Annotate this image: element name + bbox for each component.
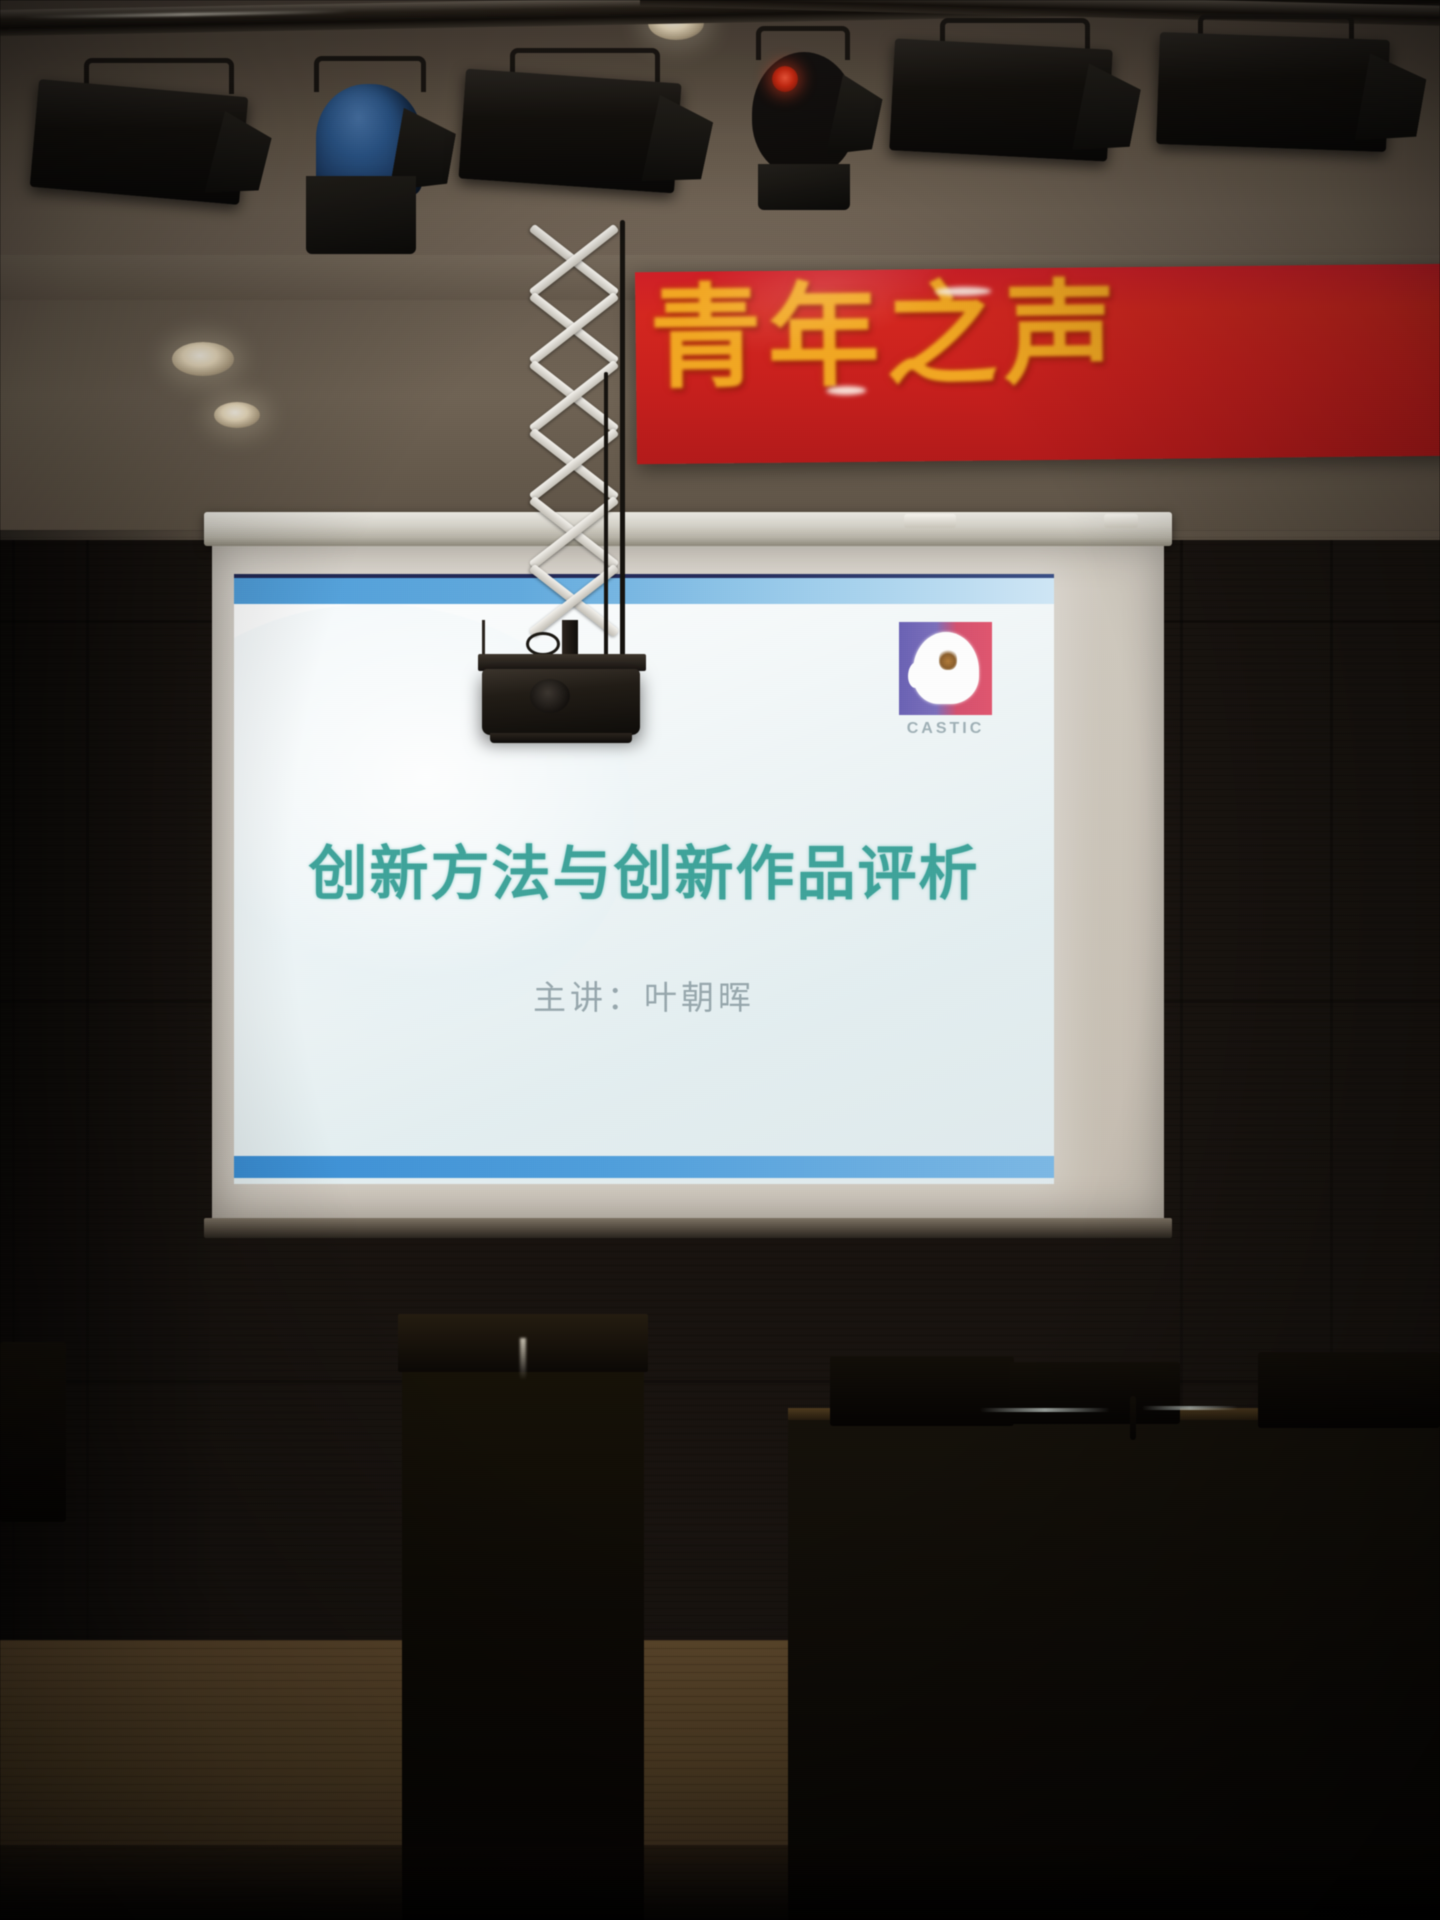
castic-logo: CASTIC <box>899 622 992 738</box>
projection-screen: CASTIC 创新方法与创新作品评析 主讲：叶朝晖 <box>204 512 1172 1260</box>
stage-light <box>26 58 266 258</box>
screen-weight-bar <box>204 1218 1172 1238</box>
red-banner: 青年之声 <box>635 264 1440 465</box>
projector-cable <box>620 220 625 656</box>
wall-speaker <box>0 1342 66 1522</box>
lamp-barndoor <box>306 176 416 254</box>
castic-logo-caption: CASTIC <box>899 720 992 738</box>
scissor-segment <box>520 290 612 362</box>
screen-surface: CASTIC 创新方法与创新作品评析 主讲：叶朝晖 <box>212 546 1164 1218</box>
screen-case-notch <box>904 514 956 528</box>
lamp-housing <box>1156 32 1390 152</box>
slide-subtitle: 主讲：叶朝晖 <box>234 971 1054 1019</box>
microphone-gooseneck <box>1130 1396 1136 1440</box>
projector-lens-icon <box>530 679 570 713</box>
auditorium-photo: 青年之声 CASTIC <box>0 0 1440 1920</box>
banner-text: 青年之声 <box>635 272 1440 399</box>
head-profile-nose <box>908 662 924 688</box>
slide-title: 创新方法与创新作品评析 <box>234 826 1054 911</box>
projector-cable <box>604 372 608 662</box>
stage-light <box>738 26 868 226</box>
ceiling-downlight <box>214 402 260 428</box>
head-table <box>788 1408 1440 1920</box>
projector-body <box>482 669 640 735</box>
podium-highlight <box>520 1338 526 1380</box>
projector-scissor-lift <box>520 222 630 692</box>
ceiling-downlight <box>172 342 234 376</box>
stage-light <box>1158 14 1440 214</box>
slide-top-band-edge <box>234 574 1054 578</box>
projector-base <box>490 733 632 743</box>
scissor-segment <box>520 222 612 294</box>
wall-groove <box>86 540 89 1660</box>
slide-top-band <box>234 574 1054 604</box>
stage-light <box>884 18 1134 218</box>
table-item <box>1010 1362 1180 1424</box>
screen-roller-case <box>204 512 1172 546</box>
screen-case-notch <box>1104 514 1138 528</box>
scissor-segment <box>520 358 612 430</box>
projector-loop-wire <box>526 632 560 656</box>
logo-spark-icon <box>939 648 957 670</box>
scissor-segment <box>520 494 612 566</box>
lamp-barndoor <box>758 164 850 210</box>
scissor-segment <box>520 426 612 498</box>
slide-bottom-band <box>234 1156 1054 1178</box>
microphone-stand <box>980 1408 1110 1412</box>
wall-groove <box>0 1380 1440 1383</box>
stage-light <box>458 48 708 248</box>
table-item <box>830 1356 1014 1426</box>
table-item <box>1258 1352 1440 1428</box>
floor-shadow <box>0 1845 1440 1920</box>
castic-logo-mark <box>899 622 992 715</box>
microphone-stand <box>1142 1406 1238 1410</box>
speaker-podium <box>402 1320 644 1920</box>
stage-light <box>292 56 452 256</box>
lamp-indicator-icon <box>772 66 798 92</box>
